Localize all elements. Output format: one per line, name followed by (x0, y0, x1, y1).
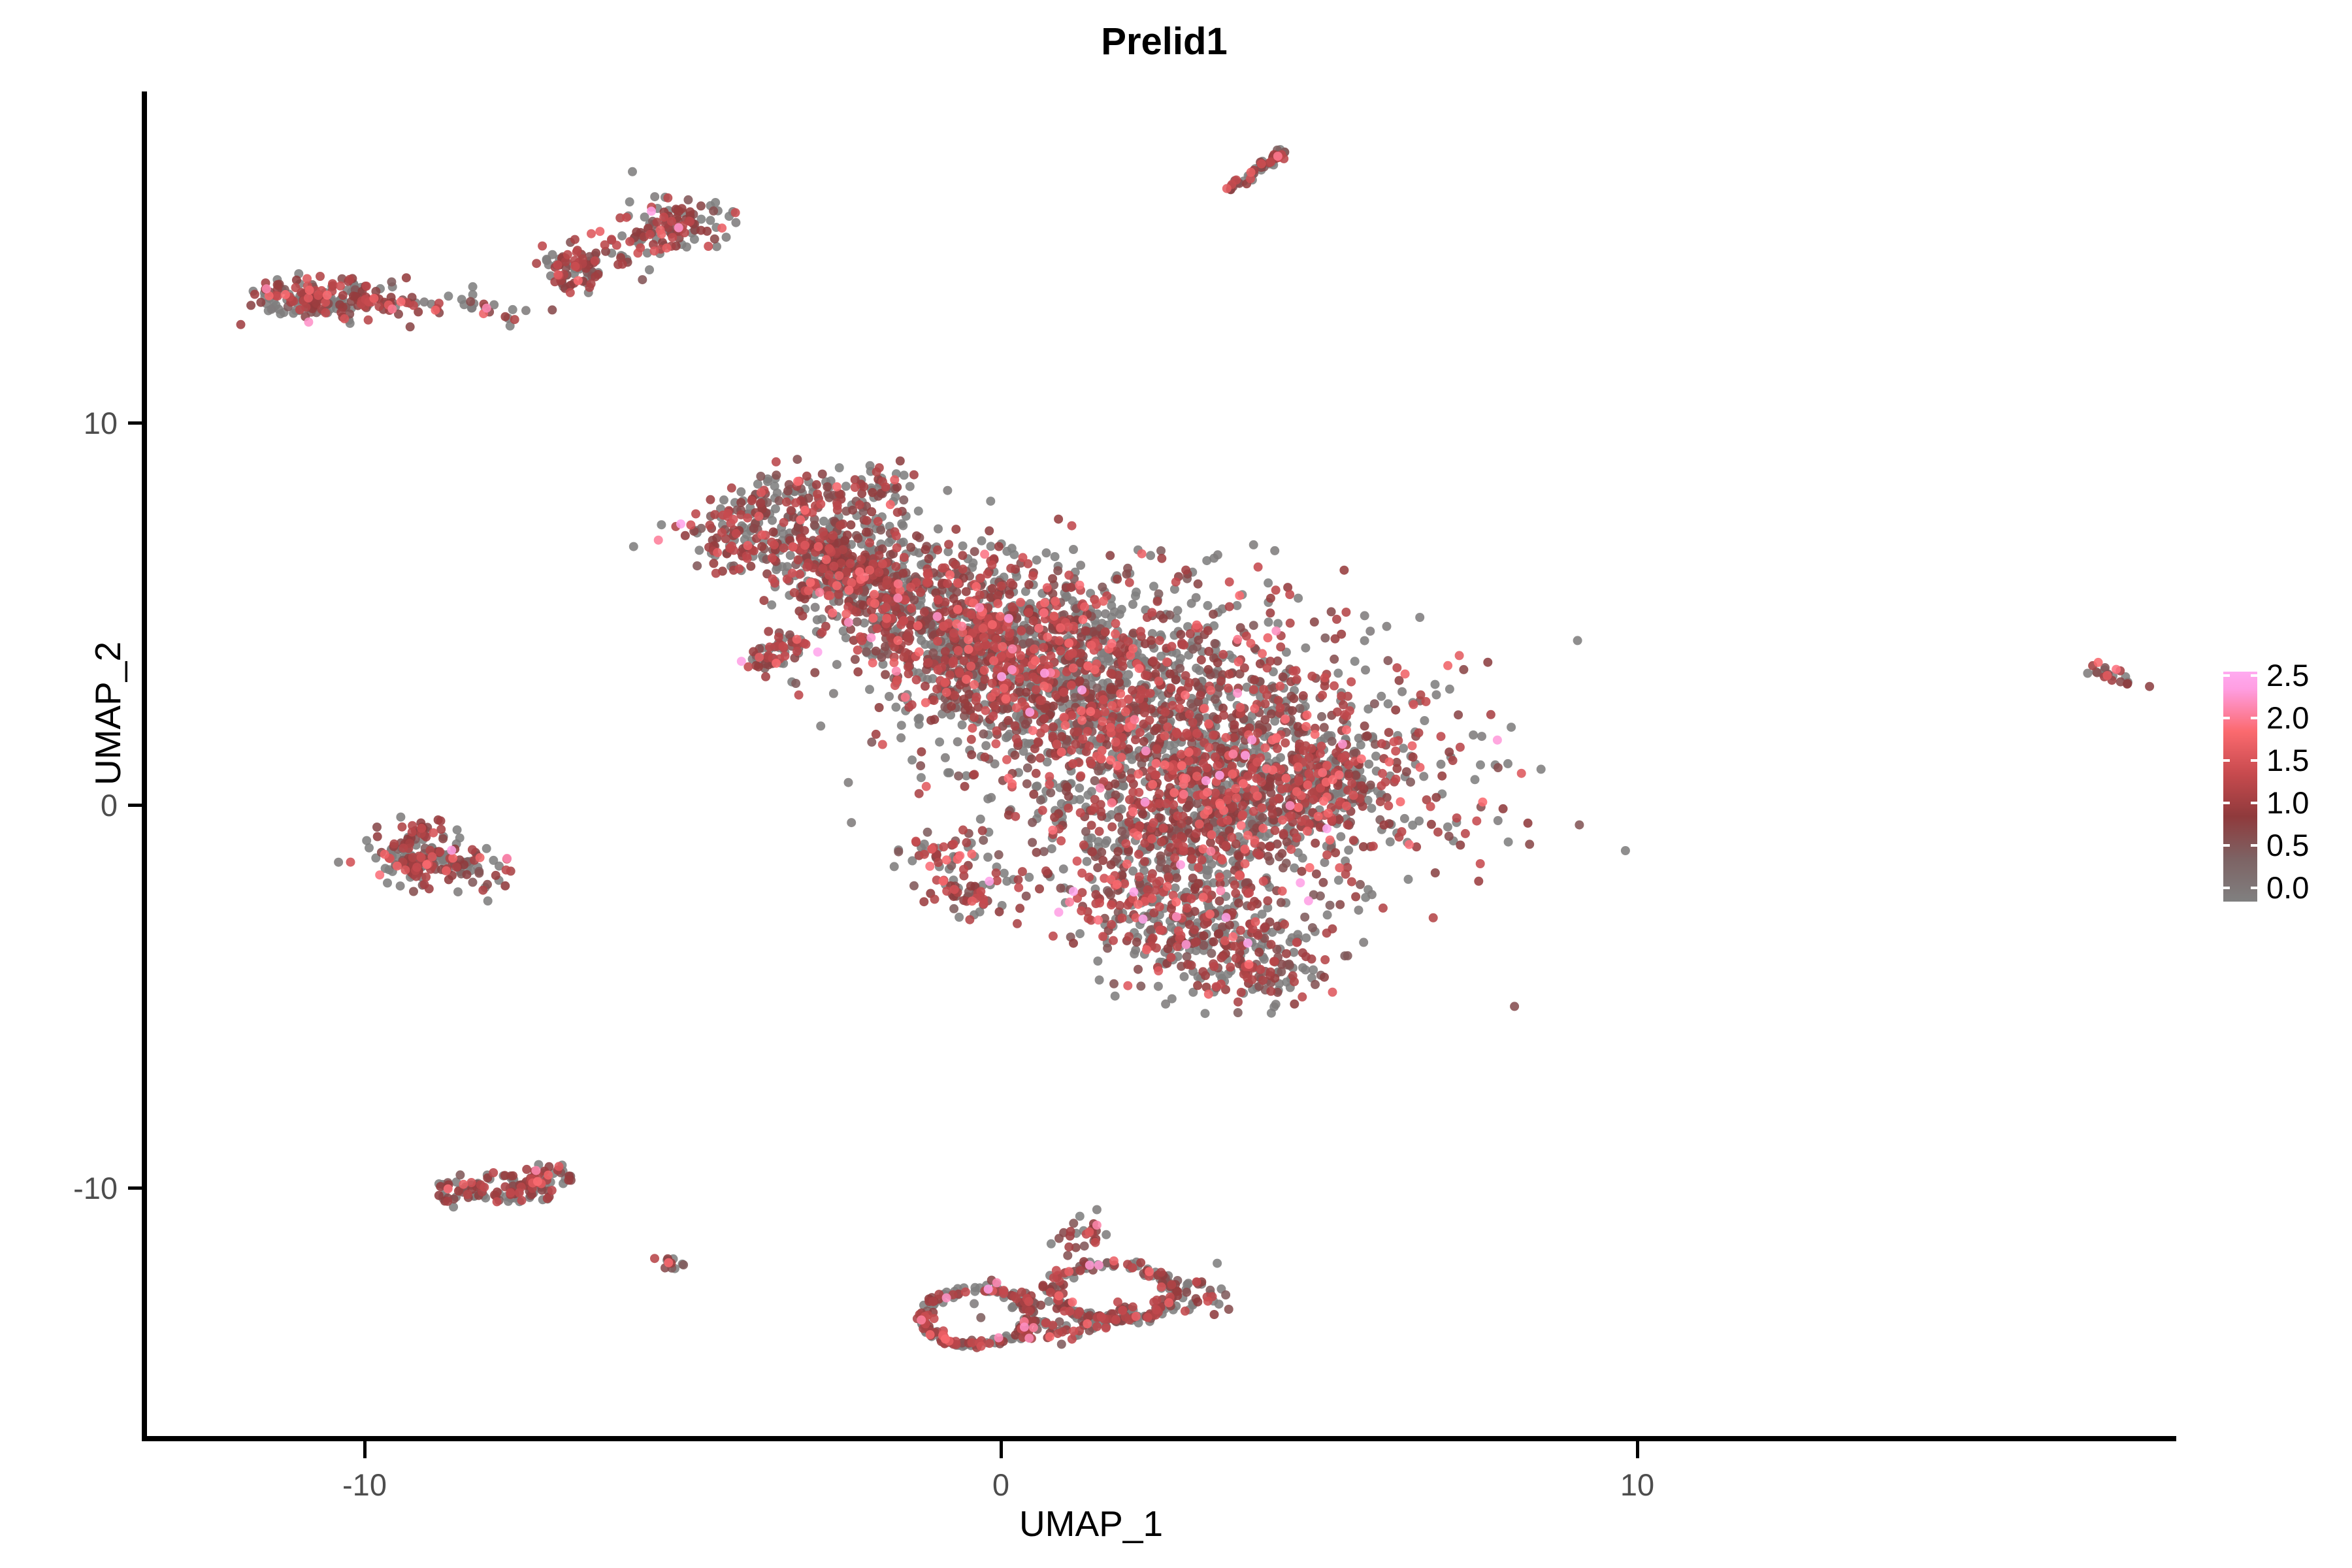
x-axis-line (142, 1436, 2176, 1441)
y-axis-title: UMAP_2 (87, 576, 129, 851)
x-tick-label-0: 0 (936, 1467, 1066, 1503)
x-tick-mark-neg10 (363, 1441, 367, 1458)
scatter-points-layer (144, 91, 2178, 1439)
color-legend: 2.5 2.0 1.5 1.0 0.5 0.0 (2223, 672, 2347, 920)
legend-colorbar (2223, 672, 2257, 902)
legend-label-0.0: 0.0 (2266, 872, 2309, 903)
y-tick-mark-0 (128, 804, 145, 807)
x-tick-label-10: 10 (1572, 1467, 1703, 1503)
legend-label-1.5: 1.5 (2266, 745, 2309, 776)
plot-title-text: Prelid1 (1101, 20, 1227, 63)
y-axis-line (142, 91, 147, 1441)
plot-panel (144, 91, 2178, 1439)
y-tick-mark-10 (128, 421, 145, 425)
page-title: Prelid1 (0, 20, 2352, 63)
x-tick-mark-10 (1636, 1441, 1639, 1458)
legend-tick-2.0 (2223, 717, 2257, 719)
y-tick-label-10: 10 (26, 405, 118, 441)
x-tick-mark-0 (1000, 1441, 1003, 1458)
legend-tick-1.5 (2223, 759, 2257, 762)
y-tick-label-neg10: -10 (13, 1170, 118, 1206)
legend-label-1.0: 1.0 (2266, 787, 2309, 818)
legend-tick-2.5 (2223, 674, 2257, 677)
y-tick-mark-neg10 (128, 1186, 145, 1190)
legend-label-2.0: 2.0 (2266, 702, 2309, 733)
x-axis-title: UMAP_1 (0, 1503, 2182, 1544)
legend-tick-0.5 (2223, 844, 2257, 847)
legend-tick-0.0 (2223, 887, 2257, 889)
x-tick-label-neg10: -10 (299, 1467, 430, 1503)
umap-feature-plot: Prelid1 10 0 -10 -10 0 10 UMAP_2 UMAP_1 … (0, 0, 2352, 1568)
legend-tick-1.0 (2223, 802, 2257, 804)
legend-label-2.5: 2.5 (2266, 660, 2309, 691)
legend-label-0.5: 0.5 (2266, 830, 2309, 860)
